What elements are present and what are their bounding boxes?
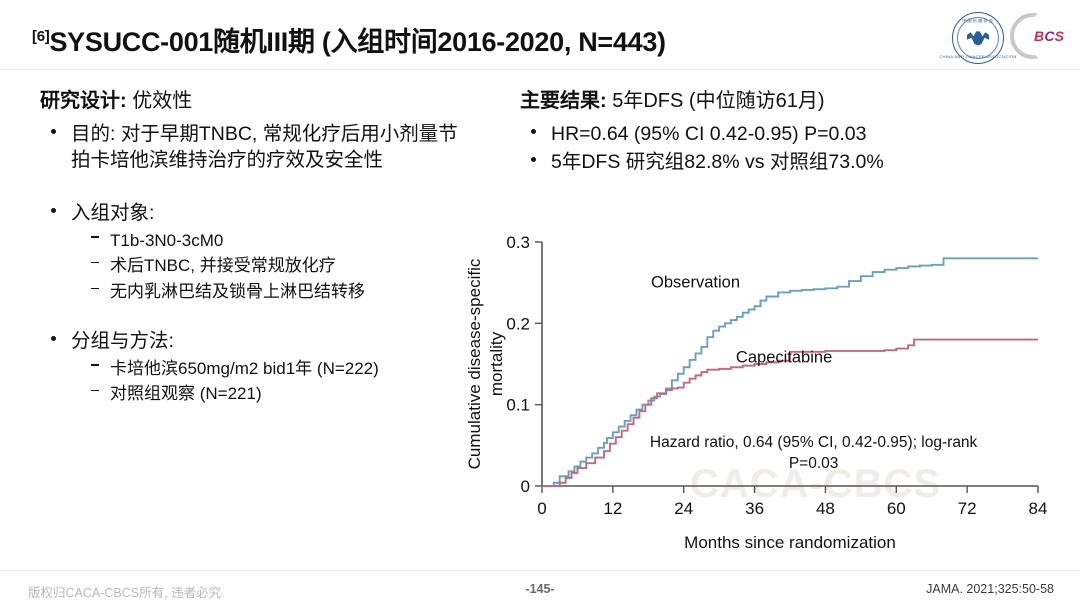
chart-annotation: P=0.03 — [789, 455, 839, 472]
y-tick-label: 0.1 — [506, 396, 530, 415]
list-item: 卡培他滨650mg/m2 bid1年 (N=222) — [89, 357, 460, 382]
bullet-dot-icon — [51, 336, 56, 341]
spacer — [40, 309, 460, 329]
dash-icon — [91, 390, 99, 392]
y-axis-title-line: Cumulative disease-specific — [465, 258, 484, 469]
bcs-letter-c: C — [1044, 28, 1054, 44]
list-item: 术后TNBC, 并接受常规放化疗 — [89, 254, 460, 279]
y-tick-label: 0 — [521, 477, 530, 496]
bullet-text: HR=0.64 (95% CI 0.42-0.95) P=0.03 — [551, 123, 866, 145]
primary-results-heading-label: 主要结果: — [520, 90, 607, 112]
x-tick-label: 60 — [887, 499, 906, 518]
sub-bullet-text: 对照组观察 (N=221) — [110, 384, 262, 403]
dash-icon — [91, 236, 99, 238]
logo-group: 中国抗癌协会 CHINA ANTI-CANCER ASSOCIATION BCS — [950, 10, 1070, 68]
y-tick-label: 0.2 — [506, 314, 530, 333]
x-tick-label: 48 — [816, 499, 835, 518]
list-item: T1b-3N0-3cM0 — [89, 229, 460, 254]
list-item: 对照组观察 (N=221) — [89, 382, 460, 407]
study-design-column: 研究设计: 优效性 目的: 对于早期TNBC, 常规化疗后用小剂量节拍卡培他滨维… — [40, 84, 460, 411]
title-superscript: [6] — [32, 28, 49, 45]
x-tick-label: 36 — [745, 499, 764, 518]
copyright-notice: 版权归CACA-CBCS所有, 违者必究 — [28, 582, 221, 601]
study-design-heading-value: 优效性 — [127, 90, 193, 112]
x-tick-label: 84 — [1029, 499, 1048, 518]
spacer — [40, 178, 460, 201]
sub-bullet-text: 无内乳淋巴结及锁骨上淋巴结转移 — [110, 282, 365, 301]
bcs-letter-s: S — [1055, 28, 1065, 44]
bullet-dot-icon — [51, 129, 56, 134]
study-design-heading: 研究设计: 优效性 — [40, 84, 460, 113]
series-curve-observation — [542, 258, 1038, 486]
list-item: 入组对象: T1b-3N0-3cM0 术后TNBC, 并接受常规放化疗 无内乳淋… — [46, 201, 460, 305]
chart-annotation: Hazard ratio, 0.64 (95% CI, 0.42-0.95); … — [650, 434, 978, 451]
footer-divider — [0, 570, 1080, 571]
study-design-bullet-list: 目的: 对于早期TNBC, 常规化疗后用小剂量节拍卡培他滨维持治疗的疗效及安全性 — [46, 122, 460, 174]
bullet-dot-icon — [531, 129, 536, 134]
grouping-bullet-list: 分组与方法: 卡培他滨650mg/m2 bid1年 (N=222) 对照组观察 … — [46, 329, 460, 407]
primary-results-heading: 主要结果: 5年DFS (中位随访61月) — [520, 84, 1020, 113]
kaplan-meier-chart: 01224364860728400.10.20.3Months since ra… — [452, 212, 1052, 562]
grouping-sub-list: 卡培他滨650mg/m2 bid1年 (N=222) 对照组观察 (N=221) — [89, 357, 460, 407]
title-bar: [6]SYSUCC-001随机III期 (入组时间2016-2020, N=44… — [0, 0, 1080, 72]
title-divider — [0, 69, 1080, 70]
bullet-dot-icon — [51, 208, 56, 213]
caca-seal-bottom-text: CHINA ANTI-CANCER ASSOCIATION — [939, 54, 1016, 59]
chart-svg: 01224364860728400.10.20.3Months since ra… — [452, 212, 1052, 562]
slide-root: [6]SYSUCC-001随机III期 (入组时间2016-2020, N=44… — [0, 0, 1080, 608]
study-design-heading-label: 研究设计: — [40, 90, 127, 112]
caca-seal-top-text: 中国抗癌协会 — [962, 18, 994, 24]
bullet-text: 分组与方法: — [71, 330, 174, 352]
bullet-text: 目的: 对于早期TNBC, 常规化疗后用小剂量节拍卡培他滨维持治疗的疗效及安全性 — [71, 123, 458, 171]
series-label-capecitabine: Capecitabine — [736, 348, 832, 366]
bullet-text: 5年DFS 研究组82.8% vs 对照组73.0% — [551, 151, 884, 173]
enrollment-sub-list: T1b-3N0-3cM0 术后TNBC, 并接受常规放化疗 无内乳淋巴结及锁骨上… — [89, 229, 460, 305]
y-tick-label: 0.3 — [506, 233, 530, 252]
y-axis-title-line: mortality — [487, 331, 506, 396]
primary-results-column: 主要结果: 5年DFS (中位随访61月) HR=0.64 (95% CI 0.… — [520, 84, 1020, 178]
x-tick-label: 12 — [603, 499, 622, 518]
sub-bullet-text: 卡培他滨650mg/m2 bid1年 (N=222) — [110, 359, 379, 378]
enrollment-bullet-list: 入组对象: T1b-3N0-3cM0 术后TNBC, 并接受常规放化疗 无内乳淋… — [46, 201, 460, 305]
x-tick-label: 24 — [674, 499, 693, 518]
page-number: -145- — [525, 582, 554, 596]
dash-icon — [91, 364, 99, 366]
series-label-observation: Observation — [651, 274, 740, 292]
dash-icon — [91, 262, 99, 264]
list-item: HR=0.64 (95% CI 0.42-0.95) P=0.03 — [526, 122, 1020, 148]
footer-bar: 版权归CACA-CBCS所有, 违者必究 -145- JAMA. 2021;32… — [0, 570, 1080, 608]
bcs-logo: BCS — [1010, 13, 1068, 63]
list-item: 目的: 对于早期TNBC, 常规化疗后用小剂量节拍卡培他滨维持治疗的疗效及安全性 — [46, 122, 460, 174]
bullet-text: 入组对象: — [71, 202, 154, 224]
bullet-dot-icon — [531, 157, 536, 162]
primary-results-bullet-list: HR=0.64 (95% CI 0.42-0.95) P=0.03 5年DFS … — [526, 122, 1020, 176]
list-item: 无内乳淋巴结及锁骨上淋巴结转移 — [89, 280, 460, 305]
page-title: [6]SYSUCC-001随机III期 (入组时间2016-2020, N=44… — [32, 20, 666, 59]
bcs-logo-text: BCS — [1034, 28, 1064, 44]
primary-results-heading-value: 5年DFS (中位随访61月) — [607, 90, 825, 112]
dash-icon — [91, 288, 99, 290]
sub-bullet-text: T1b-3N0-3cM0 — [110, 231, 223, 250]
title-text: SYSUCC-001随机III期 (入组时间2016-2020, N=443) — [49, 27, 665, 57]
bcs-letter-b: B — [1034, 28, 1044, 44]
x-axis-title: Months since randomization — [684, 533, 896, 552]
sub-bullet-text: 术后TNBC, 并接受常规放化疗 — [110, 256, 336, 275]
list-item: 5年DFS 研究组82.8% vs 对照组73.0% — [526, 150, 1020, 176]
citation: JAMA. 2021;325:50-58 — [926, 582, 1054, 596]
list-item: 分组与方法: 卡培他滨650mg/m2 bid1年 (N=222) 对照组观察 … — [46, 329, 460, 407]
x-tick-label: 72 — [958, 499, 977, 518]
caca-seal-logo: 中国抗癌协会 CHINA ANTI-CANCER ASSOCIATION — [952, 12, 1004, 64]
x-tick-label: 0 — [537, 499, 546, 518]
